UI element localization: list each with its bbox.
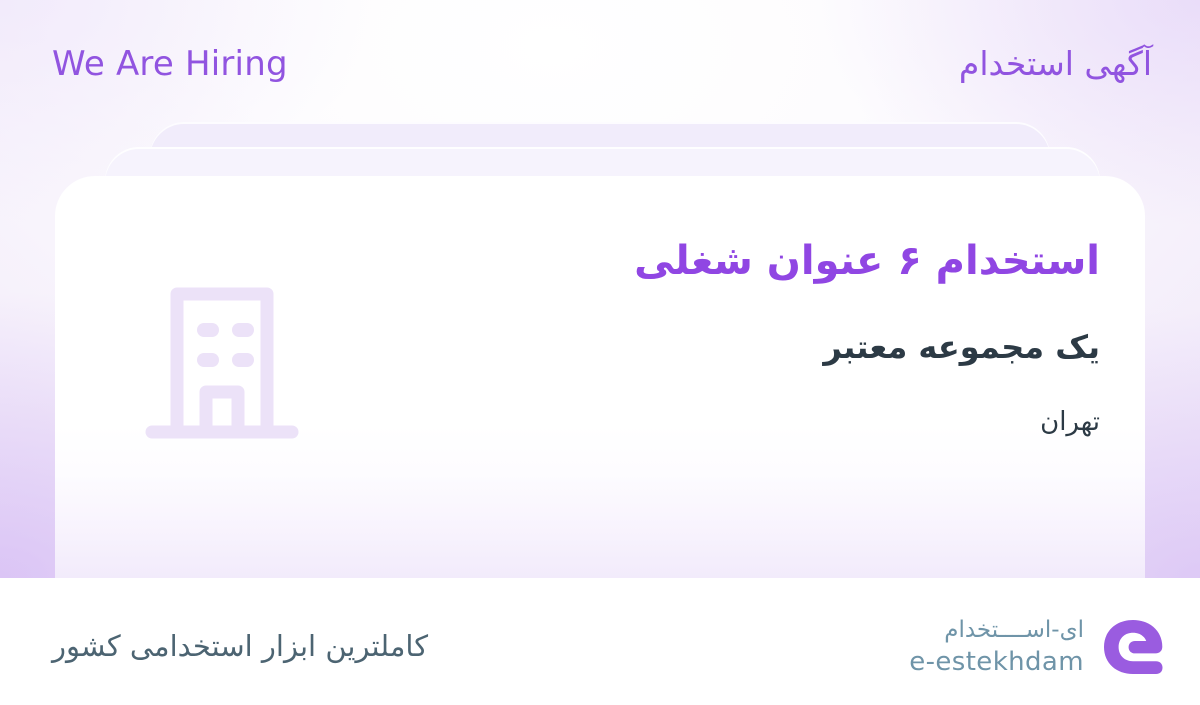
- brand-name-en: e-estekhdam: [909, 649, 1084, 675]
- e-estekhdam-e-icon: [1102, 618, 1164, 676]
- building-icon: [143, 276, 301, 446]
- brand-name-fa: ای-اســــتخدام: [944, 619, 1084, 642]
- job-card-text-block: استخدام ۶ عنوان شغلی یک مجموعه معتبر تهر…: [634, 234, 1100, 440]
- company-name: یک مجموعه معتبر: [634, 326, 1100, 369]
- footer-tagline: کاملترین ابزار استخدامی کشور: [52, 628, 428, 666]
- job-title: استخدام ۶ عنوان شغلی: [634, 234, 1100, 288]
- footer-bar: کاملترین ابزار استخدامی کشور ای-اســــتخ…: [0, 578, 1200, 705]
- header-label-en: We Are Hiring: [52, 40, 288, 88]
- brand-logo-text: ای-اســــتخدام e-estekhdam: [909, 619, 1084, 675]
- brand-logo[interactable]: ای-اســــتخدام e-estekhdam: [909, 618, 1164, 676]
- job-location: تهران: [634, 405, 1100, 440]
- job-card[interactable]: استخدام ۶ عنوان شغلی یک مجموعه معتبر تهر…: [55, 176, 1145, 578]
- header-label-fa: آگهی استخدام: [959, 40, 1152, 88]
- job-ad-canvas: We Are Hiring آگهی استخدام: [0, 0, 1200, 705]
